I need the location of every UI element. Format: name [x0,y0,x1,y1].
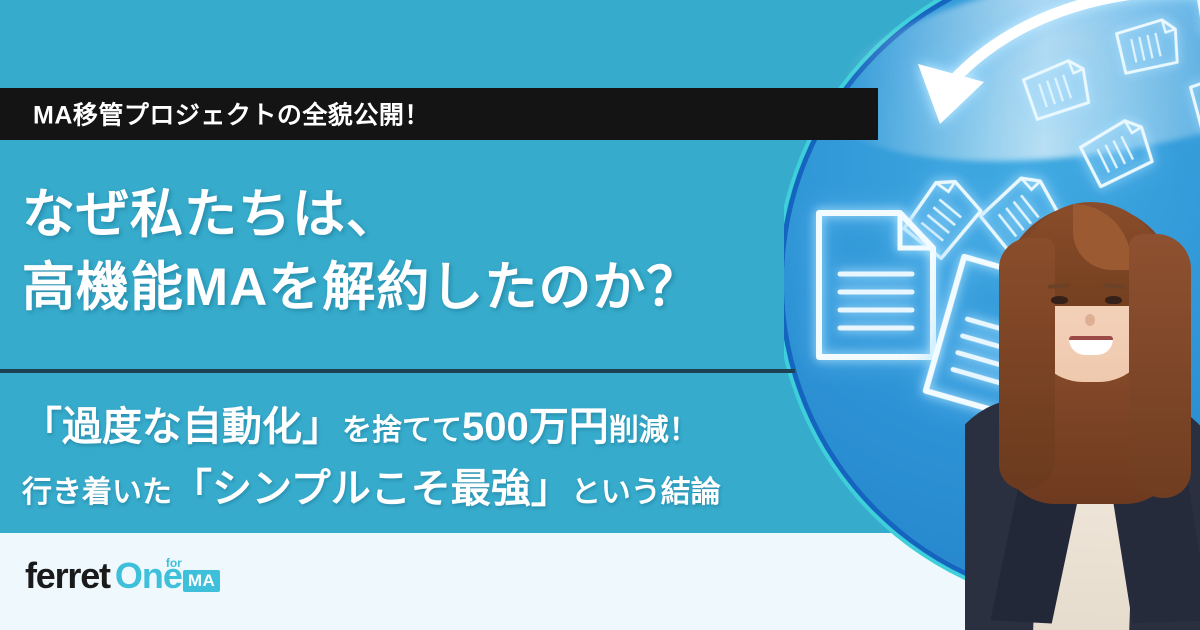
eye-left [1051,296,1068,304]
subtitle-emphasis-1: 「過度な自動化」 [22,405,342,449]
document-icon [812,206,940,364]
subtitle-plain-1: を捨てて [342,414,462,447]
hair-right-strand [1129,234,1191,498]
headline-line-1: なぜ私たちは、 [22,178,700,251]
subtitle-emphasis-2: 「シンプルこそ最強」 [172,467,571,511]
eyebrow-banner: MA移管プロジェクトの全貌公開！ [0,88,878,140]
subtitle-plain-3: 行き着いた [22,476,172,509]
ferret-one-logo[interactable]: ferret One for MA [25,557,220,594]
nose [1085,314,1095,326]
subtitle-line-2: 行き着いた「シンプルこそ最強」という結論 [22,456,721,514]
subtitle-plain-2: 削減！ [609,414,699,447]
hair-left-strand [999,238,1055,490]
headline-line-2: 高機能MAを解約したのか？ [22,251,700,324]
businesswoman-photo [965,168,1200,630]
subtitle-line-1: 「過度な自動化」を捨てて500万円削減！ [22,394,699,452]
logo-for-text: for [166,557,182,569]
page-title: なぜ私たちは、 高機能MAを解約したのか？ [22,178,700,324]
subtitle-plain-4: という結論 [571,476,721,509]
document-icon [1110,14,1185,79]
eyebrow-banner-label: MA移管プロジェクトの全貌公開！ [33,95,430,131]
logo-ma-badge: MA [183,570,220,592]
banner-canvas: MA移管プロジェクトの全貌公開！ なぜ私たちは、 高機能MAを解約したのか？ 「… [0,0,1200,630]
eye-right [1105,296,1122,304]
subtitle-amount: 500万円 [462,405,609,449]
logo-brand-text: ferret [25,558,110,594]
divider [0,369,795,373]
